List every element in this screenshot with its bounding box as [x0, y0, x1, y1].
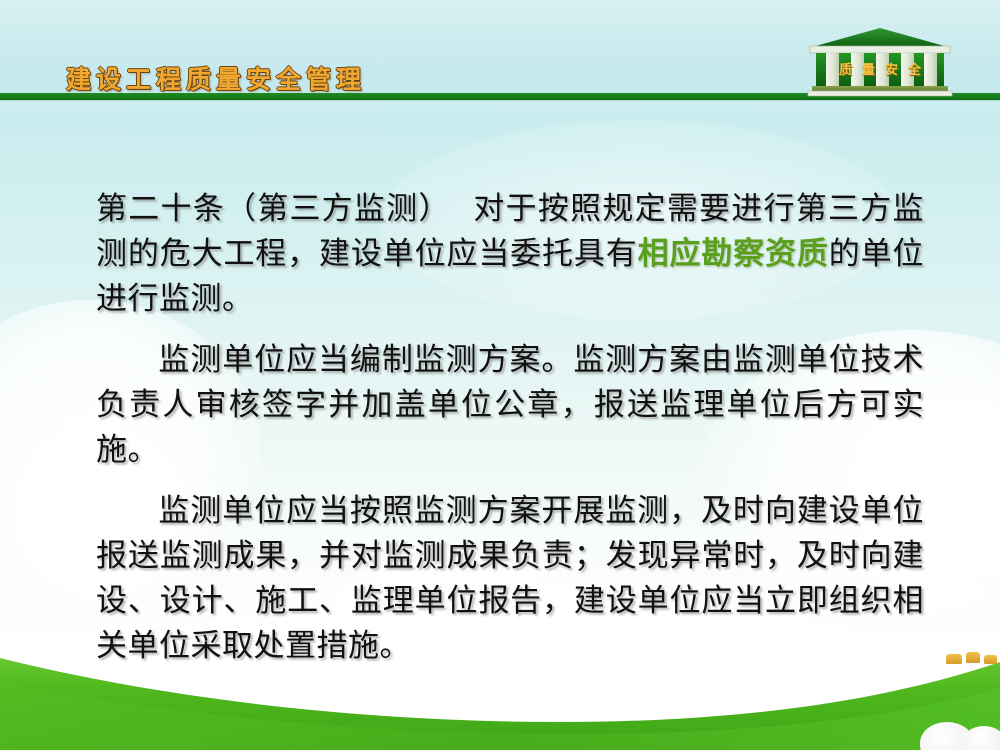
- monitoring-execution-text: 监测单位应当按照监测方案开展监测，及时向建设单位报送监测成果，并对监测成果负责；…: [96, 493, 924, 663]
- paragraph-article-20: 第二十条（第三方监测）对于按照规定需要进行第三方监测的危大工程，建设单位应当委托…: [96, 186, 924, 321]
- haystack-shape: [984, 655, 997, 664]
- highlight-qualification-text: 相应勘察资质: [638, 236, 829, 271]
- paragraph-monitoring-execution: 监测单位应当按照监测方案开展监测，及时向建设单位报送监测成果，并对监测成果负责；…: [96, 488, 924, 668]
- paragraph-monitoring-plan: 监测单位应当编制监测方案。监测方案由监测单位技术负责人审核签字并加盖单位公章，报…: [96, 337, 924, 472]
- monitoring-plan-text: 监测单位应当编制监测方案。监测方案由监测单位技术负责人审核签字并加盖单位公章，报…: [96, 342, 924, 467]
- slide-canvas: 建设工程质量安全管理: [0, 0, 1000, 750]
- slide-body-content: 第二十条（第三方监测）对于按照规定需要进行第三方监测的危大工程，建设单位应当委托…: [96, 186, 924, 668]
- haystack-shape: [966, 652, 980, 663]
- temple-icon: [806, 27, 954, 99]
- article-lead-text: 第二十条（第三方监测）: [96, 191, 451, 226]
- haystack-shape: [946, 654, 962, 664]
- page-title: 建设工程质量安全管理: [66, 60, 366, 96]
- quality-safety-temple-logo: 质量安全: [806, 27, 954, 99]
